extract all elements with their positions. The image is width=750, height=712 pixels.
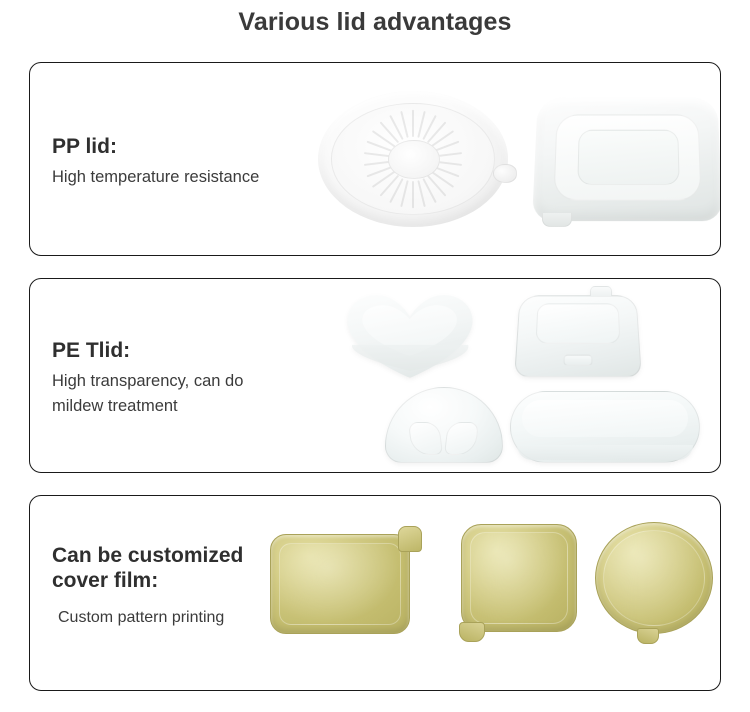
rectangular-gold-foil-body bbox=[270, 534, 410, 634]
panel-cover-film-heading: Can be customized cover film: bbox=[52, 544, 243, 594]
round-pp-lid-rib bbox=[422, 115, 436, 140]
round-pp-lid-rib bbox=[400, 111, 408, 138]
round-gold-foil-film-image bbox=[595, 522, 719, 644]
oval-pet-lid-base bbox=[517, 445, 694, 460]
rectangular-pp-lid-notch bbox=[542, 213, 572, 227]
oval-pet-lid-image bbox=[510, 391, 700, 463]
square-pet-lid-top bbox=[536, 304, 621, 345]
square-pet-lid-nub bbox=[590, 286, 612, 296]
square-pet-lid-tab bbox=[563, 355, 593, 366]
square-gold-foil-tab bbox=[459, 622, 485, 642]
round-gold-foil-tab bbox=[637, 628, 659, 644]
round-pp-lid-rib bbox=[412, 181, 414, 208]
panel-pp-lid-text: PP lid: High temperature resistance bbox=[52, 135, 259, 190]
rectangular-pp-lid-inner-panel bbox=[577, 129, 680, 185]
panel-pp-lid-description: High temperature resistance bbox=[52, 165, 259, 191]
heart-pet-lid-base bbox=[350, 342, 470, 371]
heart-pet-lid-image bbox=[345, 292, 475, 378]
panel-cover-film: Can be customized cover film: Custom pat… bbox=[29, 495, 721, 691]
round-pp-lid-hub bbox=[388, 140, 439, 179]
oval-pet-lid-top bbox=[522, 400, 687, 438]
square-pet-lid-body bbox=[514, 295, 642, 377]
round-pp-lid-rib bbox=[400, 180, 408, 207]
oval-pet-lid-body bbox=[510, 391, 700, 463]
round-pp-lid-rib bbox=[364, 161, 391, 166]
square-gold-foil-body bbox=[461, 524, 577, 632]
rectangular-gold-foil-inner bbox=[279, 543, 400, 625]
rectangular-gold-foil-film-image bbox=[270, 526, 422, 634]
panel-pp-lid-heading: PP lid: bbox=[52, 135, 259, 160]
rectangular-pp-lid-body bbox=[532, 98, 721, 222]
panel-pe-lid-text: PE Tlid: High transparency, can do milde… bbox=[52, 339, 243, 420]
round-gold-foil-inner bbox=[603, 530, 705, 627]
panel-pe-lid: PE Tlid: High transparency, can do milde… bbox=[29, 278, 721, 473]
dome-pet-lid-lobe-left bbox=[408, 422, 443, 455]
round-pp-lid-rib bbox=[412, 110, 414, 137]
dome-pet-lid-body bbox=[385, 387, 503, 463]
dome-pet-lid-lobe-right bbox=[444, 422, 479, 455]
square-gold-foil-inner bbox=[470, 532, 568, 623]
panel-cover-film-description: Custom pattern printing bbox=[52, 606, 243, 631]
rectangular-pp-lid-image bbox=[535, 95, 720, 220]
round-gold-foil-body bbox=[595, 522, 713, 634]
rectangular-gold-foil-tab bbox=[398, 526, 422, 552]
dome-pet-lid-image bbox=[385, 387, 503, 463]
page-title: Various lid advantages bbox=[0, 8, 750, 37]
round-pp-lid-image bbox=[318, 91, 508, 227]
panel-pp-lid: PP lid: High temperature resistance bbox=[29, 62, 721, 256]
round-pp-lid-tab bbox=[493, 164, 517, 183]
panel-pe-lid-description: High transparency, can do mildew treatme… bbox=[52, 369, 243, 420]
infographic-page: Various lid advantages PP lid: High temp… bbox=[0, 0, 750, 712]
round-pp-lid-rib bbox=[364, 152, 391, 157]
square-gold-foil-film-image bbox=[455, 524, 585, 642]
panel-cover-film-text: Can be customized cover film: Custom pat… bbox=[52, 544, 243, 630]
panel-pe-lid-heading: PE Tlid: bbox=[52, 339, 243, 364]
square-pet-lid-image bbox=[517, 292, 639, 377]
